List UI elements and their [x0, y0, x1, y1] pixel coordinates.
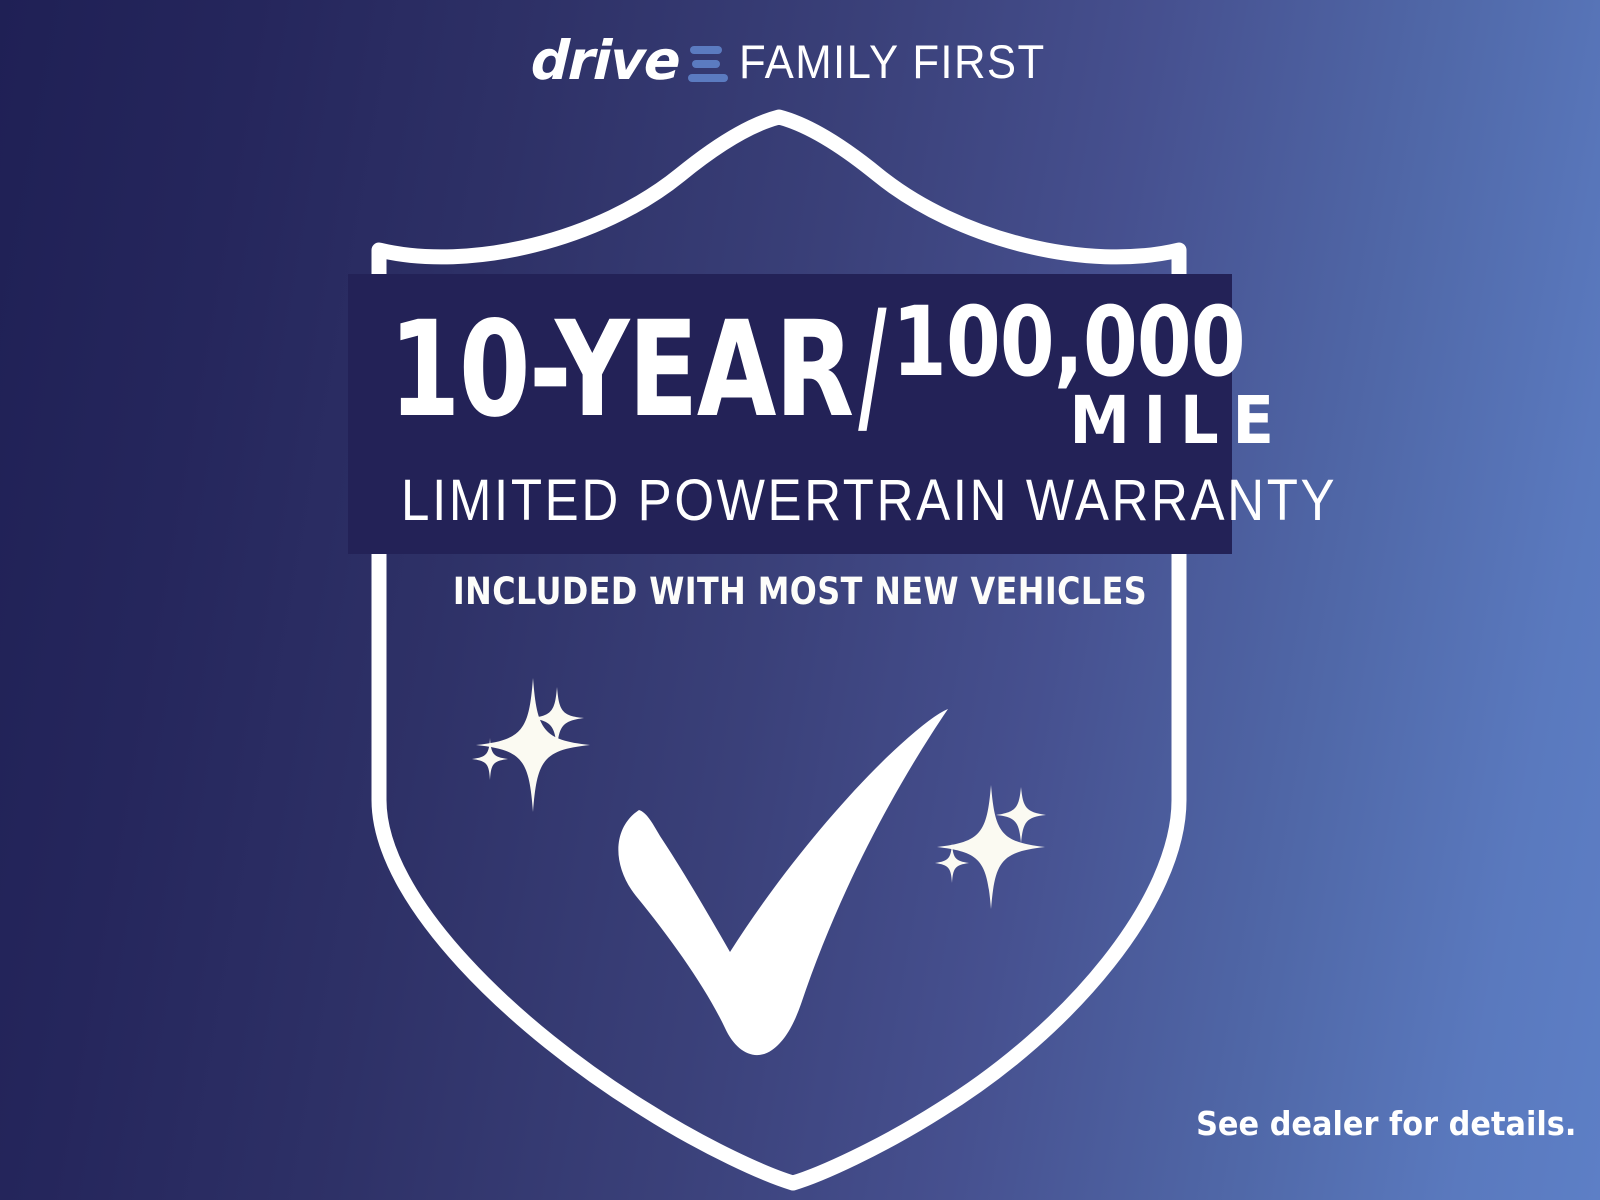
sparkle-star-icon: [476, 678, 590, 812]
headline-miles: 100,000: [892, 300, 1245, 384]
warranty-subheadline: LIMITED POWERTRAIN WARRANTY: [401, 472, 1179, 530]
warranty-promo-banner: drive FAMILY FIRST 10-YEAR / 100,000 MIL…: [0, 0, 1600, 1200]
brand-tagline: FAMILY FIRST: [739, 38, 1046, 85]
headline-separator: /: [858, 300, 886, 432]
sparkle-cluster-right: [935, 785, 1046, 909]
headline-row: 10-YEAR / 100,000 MILE: [348, 296, 1232, 456]
disclaimer-text: See dealer for details.: [1196, 1106, 1576, 1142]
sparkle-cluster-left: [472, 678, 590, 812]
brand-wordmark: drive: [530, 34, 680, 88]
included-with-vehicles-text: INCLUDED WITH MOST NEW VEHICLES: [112, 572, 1488, 612]
brand-logo: drive FAMILY FIRST: [0, 30, 1600, 92]
checkmark-icon: [618, 709, 948, 1055]
stack-bars-icon: [688, 41, 728, 82]
headline-years: 10-YEAR: [389, 304, 853, 436]
warranty-banner: 10-YEAR / 100,000 MILE LIMITED POWERTRAI…: [348, 274, 1232, 554]
headline-mile-word: MILE: [892, 388, 1288, 454]
headline-miles-group: 100,000 MILE: [892, 300, 1322, 454]
sparkle-star-icon: [937, 785, 1045, 909]
